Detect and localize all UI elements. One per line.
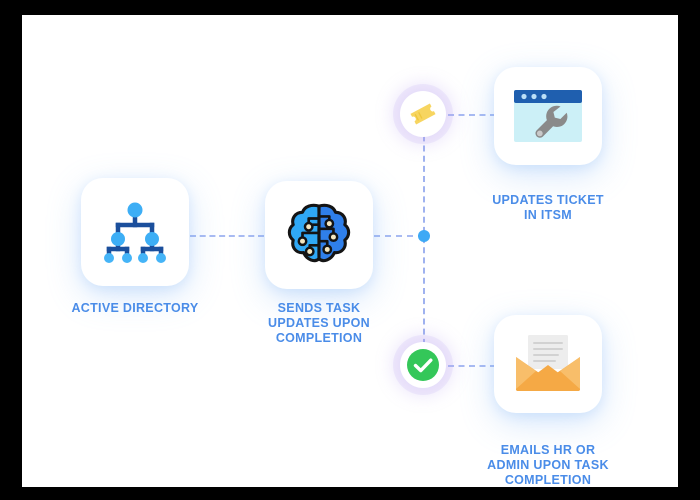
ticket-icon [409, 100, 437, 128]
success-badge[interactable] [400, 342, 446, 388]
diagram-canvas: ACTIVE DIRECTORY [22, 15, 678, 487]
browser-wrench-icon [512, 86, 584, 146]
card-email-hr[interactable] [494, 315, 602, 413]
card-ai-brain[interactable] [265, 181, 373, 289]
connector-check-to-email [448, 365, 496, 367]
label-itsm-ticket: UPDATES TICKET IN ITSM [458, 193, 638, 223]
connector-brain-to-junction [374, 235, 424, 237]
connector-ticket-to-itsm [448, 114, 496, 116]
org-chart-icon [104, 201, 166, 263]
connector-ad-to-brain [190, 235, 264, 237]
check-circle-icon [406, 348, 440, 382]
open-envelope-icon [512, 333, 584, 395]
label-ai-brain: SENDS TASK UPDATES UPON COMPLETION [229, 301, 409, 345]
junction-dot [418, 230, 430, 242]
card-active-directory[interactable] [81, 178, 189, 286]
label-email-hr: EMAILS HR OR ADMIN UPON TASK COMPLETION [468, 443, 628, 487]
ticket-badge[interactable] [400, 91, 446, 137]
card-itsm-ticket[interactable] [494, 67, 602, 165]
label-active-directory: ACTIVE DIRECTORY [45, 301, 225, 316]
ai-brain-icon [286, 202, 352, 268]
